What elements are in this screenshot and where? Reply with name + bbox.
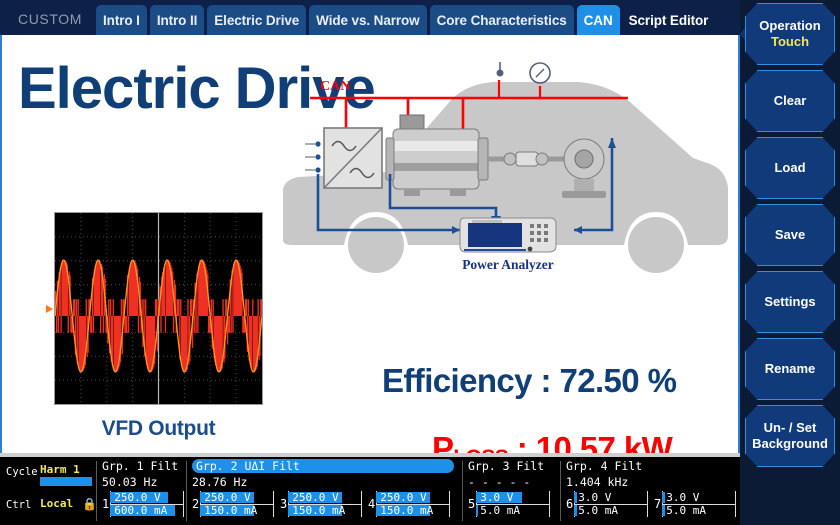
custom-label: CUSTOM — [10, 11, 96, 35]
efficiency-readout: Efficiency : 72.50 % — [382, 362, 676, 400]
cycle-value[interactable]: Harm 1 — [40, 463, 80, 476]
side-button-bar: Operation Touch Clear Load Save Settings… — [740, 0, 840, 525]
group-4-header[interactable]: Grp. 4 Filt — [566, 459, 740, 473]
sidebar-button-save-label: Save — [775, 227, 805, 243]
channel-1-current: 600.0 mA — [114, 504, 167, 517]
channel-3-number: 3 — [280, 497, 287, 511]
group-2-header[interactable]: Grp. 2 UΔI Filt — [192, 459, 454, 473]
sidebar-button-clear[interactable]: Clear — [745, 70, 835, 132]
sidebar-button-clear-label: Clear — [774, 93, 807, 109]
torque-sensor — [516, 152, 538, 166]
channel-3-voltage: 250.0 V — [292, 491, 338, 504]
sidebar-button-settings[interactable]: Settings — [745, 271, 835, 333]
channel-6-number: 6 — [566, 497, 573, 511]
scope-widget: Voltage V — [22, 205, 272, 455]
channel-1-number: 1 — [102, 497, 109, 511]
statusbar-divider — [186, 461, 187, 521]
car-rear-wheel — [628, 217, 684, 273]
group-3-frequency: - - - - - — [468, 475, 556, 489]
channel-5[interactable]: 5 3.0 V 5.0 mA — [468, 491, 550, 517]
channel-4[interactable]: 4 250.0 V 150.0 mA — [368, 491, 450, 517]
channel-7-voltage: 3.0 V — [666, 491, 699, 504]
tab-electric-drive[interactable]: Electric Drive — [207, 5, 306, 35]
channel-7-number: 7 — [654, 497, 661, 511]
channel-1[interactable]: 1 250.0 V 600.0 mA — [102, 491, 184, 517]
channel-2-voltage: 250.0 V — [204, 491, 250, 504]
statusbar-divider — [96, 461, 97, 521]
group-2-frequency: 28.76 Hz — [192, 475, 460, 489]
channel-6-voltage: 3.0 V — [578, 491, 611, 504]
sidebar-button-operation[interactable]: Operation Touch — [745, 3, 835, 65]
statusbar-cycle-column: Cycle Harm 1 Ctrl Local 🔒 — [4, 459, 96, 525]
sidebar-button-operation-value: Touch — [771, 34, 809, 50]
group-1-header[interactable]: Grp. 1 Filt — [102, 459, 182, 473]
sidebar-button-set-background-label: Un- / Set Background — [752, 420, 828, 453]
efficiency-value: 72.50 % — [559, 362, 676, 399]
channel-7-current: 5.0 mA — [666, 504, 706, 517]
sidebar-button-settings-label: Settings — [764, 294, 815, 310]
channel-5-number: 5 — [468, 497, 475, 511]
channel-4-voltage: 250.0 V — [380, 491, 426, 504]
sidebar-button-set-background[interactable]: Un- / Set Background — [745, 405, 835, 467]
can-label: CAN — [320, 79, 350, 94]
tab-script-editor[interactable]: Script Editor — [623, 5, 716, 35]
channel-4-current: 150.0 mA — [380, 504, 433, 517]
channel-2[interactable]: 2 250.0 V 150.0 mA — [192, 491, 274, 517]
ctrl-label: Ctrl — [6, 499, 31, 511]
group-4-frequency: 1.404 kHz — [566, 475, 740, 489]
trigger-marker-icon — [46, 305, 53, 313]
sidebar-button-load-label: Load — [774, 160, 805, 176]
drivetrain-diagram: CAN — [278, 40, 738, 300]
efficiency-label: Efficiency : — [382, 362, 559, 399]
channel-2-current: 150.0 mA — [204, 504, 257, 517]
tab-wide-vs-narrow[interactable]: Wide vs. Narrow — [309, 5, 426, 35]
statusbar-divider — [462, 461, 463, 521]
channel-7[interactable]: 7 3.0 V 5.0 mA — [654, 491, 736, 517]
car-front-wheel — [348, 217, 404, 273]
channel-5-voltage: 3.0 V — [480, 491, 513, 504]
lock-icon: 🔒 — [82, 497, 97, 511]
statusbar-group-1: Grp. 1 Filt 50.03 Hz 1 250.0 V 600.0 mA — [102, 459, 182, 525]
scope-svg — [55, 213, 262, 404]
tab-core-characteristics[interactable]: Core Characteristics — [430, 5, 574, 35]
content-panel: Electric Drive CAN — [0, 35, 740, 457]
channel-6-current: 5.0 mA — [578, 504, 618, 517]
group-3-header[interactable]: Grp. 3 Filt — [468, 459, 556, 473]
cycle-bar — [40, 477, 92, 486]
tab-intro-i[interactable]: Intro I — [96, 5, 147, 35]
cycle-label: Cycle — [6, 466, 38, 478]
statusbar-group-4: Grp. 4 Filt 1.404 kHz 6 3.0 V 5.0 mA 7 3… — [566, 459, 740, 525]
sidebar-button-operation-label: Operation — [759, 18, 820, 34]
sidebar-button-load[interactable]: Load — [745, 137, 835, 199]
tab-bar: CUSTOM Intro I Intro II Electric Drive W… — [0, 0, 740, 35]
channel-4-number: 4 — [368, 497, 375, 511]
scope-plot[interactable] — [54, 212, 263, 405]
status-bar: Cycle Harm 1 Ctrl Local 🔒 Grp. 1 Filt 50… — [0, 457, 740, 525]
statusbar-group-3: Grp. 3 Filt - - - - - 5 3.0 V 5.0 mA — [468, 459, 556, 525]
ctrl-value[interactable]: Local — [40, 497, 73, 510]
channel-2-number: 2 — [192, 497, 199, 511]
car-schematic-svg: CAN — [278, 40, 738, 300]
channel-1-voltage: 250.0 V — [114, 491, 160, 504]
tab-intro-ii[interactable]: Intro II — [150, 5, 204, 35]
tab-can[interactable]: CAN — [577, 5, 620, 35]
sidebar-button-rename-label: Rename — [765, 361, 816, 377]
application-window: CUSTOM Intro I Intro II Electric Drive W… — [0, 0, 840, 525]
sidebar-button-rename[interactable]: Rename — [745, 338, 835, 400]
statusbar-group-2: Grp. 2 UΔI Filt 28.76 Hz 2 250.0 V 150.0… — [192, 459, 460, 525]
power-analyzer-icon — [460, 218, 556, 252]
group-1-frequency: 50.03 Hz — [102, 475, 182, 489]
channel-3[interactable]: 3 250.0 V 150.0 mA — [280, 491, 362, 517]
power-analyzer-label: Power Analyzer — [462, 257, 554, 272]
sidebar-button-save[interactable]: Save — [745, 204, 835, 266]
channel-3-current: 150.0 mA — [292, 504, 345, 517]
scope-caption: VFD Output — [54, 417, 263, 441]
inverter-terminals-left — [305, 141, 321, 172]
channel-6[interactable]: 6 3.0 V 5.0 mA — [566, 491, 648, 517]
statusbar-divider — [560, 461, 561, 521]
channel-5-current: 5.0 mA — [480, 504, 520, 517]
